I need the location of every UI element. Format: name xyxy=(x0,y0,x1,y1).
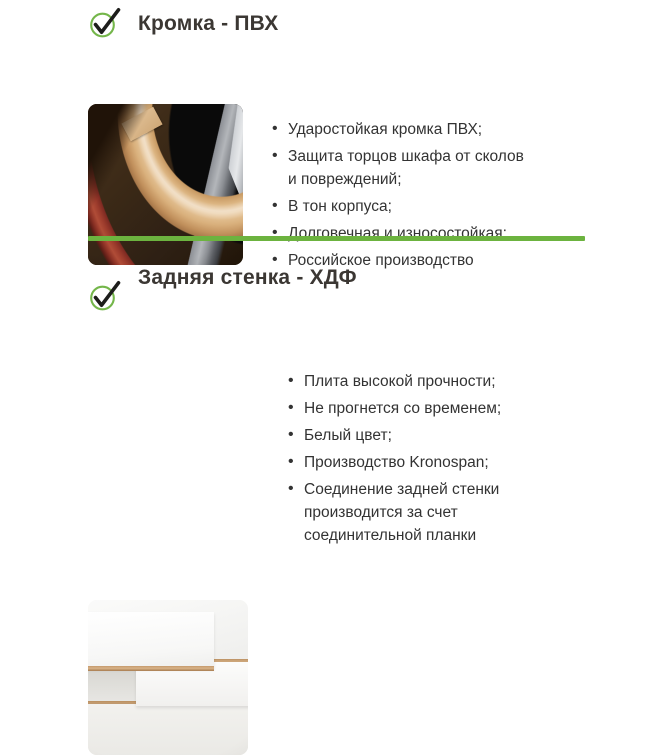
feature-list-hdf-panel: Плита высокой прочности; Не прогнется со… xyxy=(287,370,607,551)
list-item: Ударостойкая кромка ПВХ; xyxy=(271,118,601,141)
list-item: Белый цвет; xyxy=(287,424,607,447)
page-root: Кромка - ПВХ Ударостойкая кромка ПВХ; За… xyxy=(0,0,652,500)
product-image-hdf-panel xyxy=(88,600,248,755)
list-item: Не прогнется со временем; xyxy=(287,397,607,420)
section-heading-row: Кромка - ПВХ xyxy=(0,0,652,46)
list-item: В тон корпуса; xyxy=(271,195,601,218)
list-item: Производство Kronospan; xyxy=(287,451,607,474)
section-title: Задняя стенка - ХДФ xyxy=(138,267,357,288)
section-edge-banding: Кромка - ПВХ Ударостойкая кромка ПВХ; За… xyxy=(0,0,652,46)
list-item: Защита торцов шкафа от сколов и поврежде… xyxy=(271,145,601,191)
green-check-circle-icon xyxy=(88,280,122,312)
photo-layer-vignette xyxy=(88,600,248,755)
list-item: Соединение задней стенки производится за… xyxy=(287,478,607,547)
green-check-circle-icon xyxy=(88,7,122,39)
section-back-panel: Задняя стенка - ХДФ Плита высокой прочно… xyxy=(0,235,652,300)
section-title: Кромка - ПВХ xyxy=(138,13,278,34)
section-heading-row: Задняя стенка - ХДФ xyxy=(0,254,652,300)
list-item: Плита высокой прочности; xyxy=(287,370,607,393)
